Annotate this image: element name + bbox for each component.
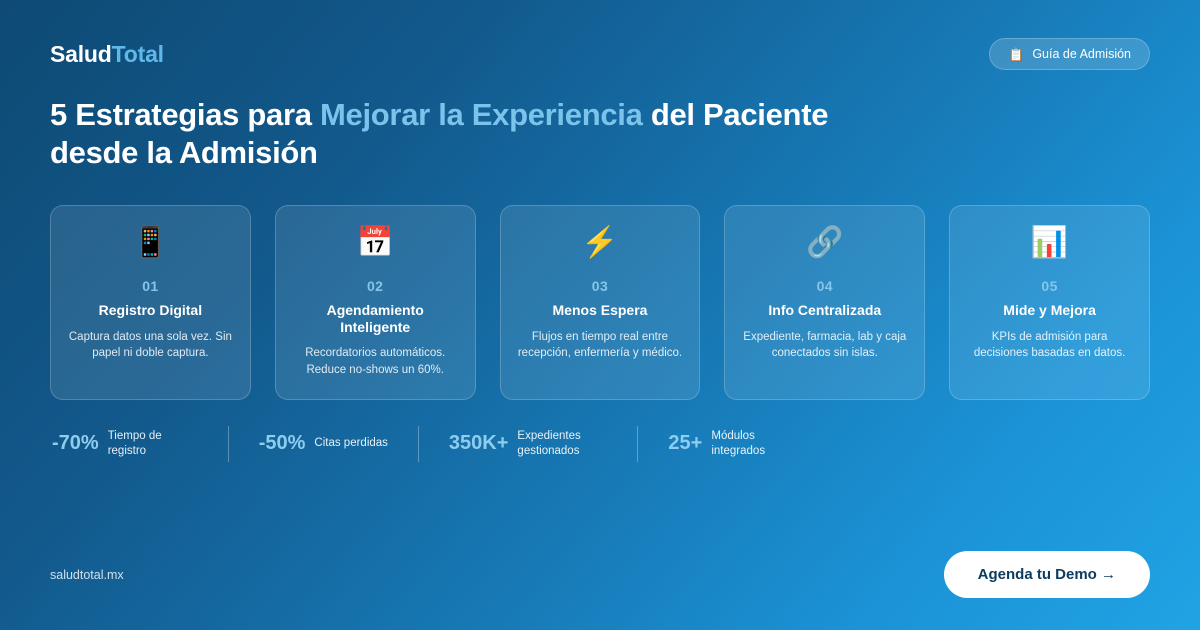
- stat-label: Expedientes gestionados: [517, 429, 607, 458]
- card-description: Expediente, farmacia, lab y caja conecta…: [739, 329, 910, 362]
- card-description: KPIs de admisión para decisiones basadas…: [964, 329, 1135, 362]
- logo-primary-text: Salud: [50, 41, 112, 67]
- logo-secondary-text: Total: [112, 41, 164, 67]
- bar-chart-icon: 📊: [1031, 224, 1068, 262]
- stat-label: Citas perdidas: [314, 436, 388, 451]
- mobile-phone-icon: 📱: [132, 224, 169, 262]
- stat-value: 25+: [668, 432, 702, 455]
- stat-item: 350K+ Expedientes gestionados: [449, 429, 608, 458]
- link-icon: 🔗: [806, 224, 843, 262]
- poster-canvas: SaludTotal 📋 Guía de Admisión 5 Estrateg…: [0, 0, 1200, 630]
- card-number: 02: [367, 278, 383, 294]
- stat-divider: [418, 426, 419, 462]
- card-title: Mide y Mejora: [1003, 302, 1096, 319]
- strategy-card[interactable]: 📊 05 Mide y Mejora KPIs de admisión para…: [949, 205, 1150, 400]
- stat-label: Tiempo de registro: [108, 429, 198, 458]
- strategy-card-list: 📱 01 Registro Digital Captura datos una …: [50, 205, 1150, 400]
- card-title: Menos Espera: [553, 302, 648, 319]
- guide-badge-label: Guía de Admisión: [1032, 47, 1131, 61]
- headline-highlight: Mejorar la Experiencia: [320, 97, 643, 132]
- stat-divider: [228, 426, 229, 462]
- demo-cta-button[interactable]: Agenda tu Demo →: [944, 551, 1150, 598]
- stat-divider: [637, 426, 638, 462]
- guide-badge[interactable]: 📋 Guía de Admisión: [989, 38, 1150, 70]
- card-title: Agendamiento Inteligente: [290, 302, 461, 336]
- strategy-card[interactable]: 🔗 04 Info Centralizada Expediente, farma…: [724, 205, 925, 400]
- calendar-icon: 📅: [357, 224, 394, 262]
- card-number: 04: [817, 278, 833, 294]
- card-description: Recordatorios automáticos. Reduce no-sho…: [290, 345, 461, 378]
- page-title: 5 Estrategias para Mejorar la Experienci…: [50, 96, 830, 173]
- stats-row: -70% Tiempo de registro -50% Citas perdi…: [50, 426, 1150, 462]
- card-title: Info Centralizada: [768, 302, 881, 319]
- card-number: 01: [142, 278, 158, 294]
- card-title: Registro Digital: [99, 302, 202, 319]
- card-description: Flujos en tiempo real entre recepción, e…: [515, 329, 686, 362]
- strategy-card[interactable]: 📱 01 Registro Digital Captura datos una …: [50, 205, 251, 400]
- card-number: 03: [592, 278, 608, 294]
- stat-item: -50% Citas perdidas: [259, 432, 388, 455]
- stat-value: -50%: [259, 432, 306, 455]
- stat-label: Módulos integrados: [711, 429, 801, 458]
- strategy-card[interactable]: 📅 02 Agendamiento Inteligente Recordator…: [275, 205, 476, 400]
- brand-logo: SaludTotal: [50, 41, 164, 68]
- headline-part-1: 5 Estrategias para: [50, 97, 320, 132]
- stat-item: 25+ Módulos integrados: [668, 429, 801, 458]
- clipboard-icon: 📋: [1008, 48, 1024, 61]
- website-url: saludtotal.mx: [50, 568, 124, 582]
- card-description: Captura datos una sola vez. Sin papel ni…: [65, 329, 236, 362]
- card-number: 05: [1041, 278, 1057, 294]
- stat-value: -70%: [52, 432, 99, 455]
- strategy-card[interactable]: ⚡ 03 Menos Espera Flujos en tiempo real …: [500, 205, 701, 400]
- header: SaludTotal 📋 Guía de Admisión: [50, 0, 1150, 70]
- footer: saludtotal.mx Agenda tu Demo →: [50, 551, 1150, 598]
- lightning-bolt-icon: ⚡: [581, 224, 618, 262]
- stat-item: -70% Tiempo de registro: [52, 429, 198, 458]
- stat-value: 350K+: [449, 432, 509, 455]
